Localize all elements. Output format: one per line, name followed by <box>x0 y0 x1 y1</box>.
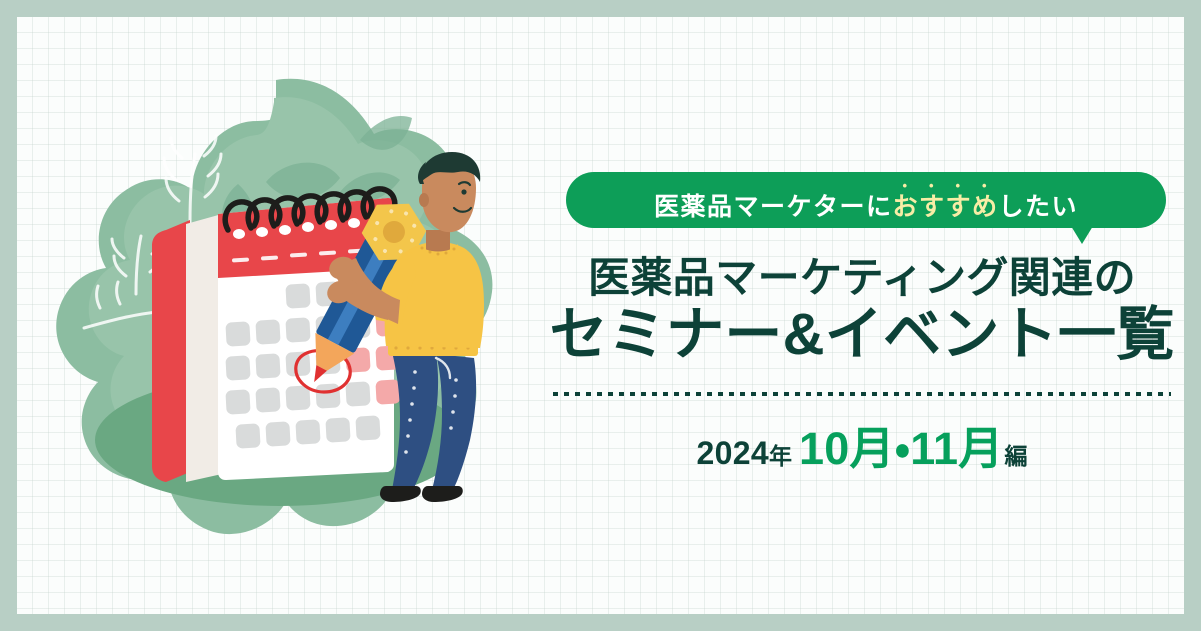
badge-text-plain: 医薬品マーケターに <box>654 193 893 221</box>
person-shoe-back <box>380 486 421 502</box>
badge-tail-pointer <box>1071 226 1093 244</box>
title-line-1: 医薬品マーケティング関連の <box>537 254 1184 301</box>
banner-content: 医薬品マーケターにおすすめしたい 医薬品マーケティング関連の セミナー&イベント… <box>537 172 1184 471</box>
date-year: 2024 <box>697 435 769 471</box>
badge-text: 医薬品マーケターにおすすめしたい <box>654 178 1078 221</box>
calendar-middle-page <box>186 214 222 482</box>
date-year-suffix: 年 <box>769 443 792 469</box>
person-ear <box>419 193 429 207</box>
recommendation-badge: 医薬品マーケターにおすすめしたい <box>566 172 1166 238</box>
dotted-divider <box>553 392 1171 396</box>
date-edition-suffix: 編 <box>1004 443 1027 469</box>
calendar-with-person-illustration <box>40 62 520 552</box>
person-eye <box>461 189 466 194</box>
date-months: 10月・11月 <box>799 423 1004 474</box>
calendar-back-cover <box>152 220 190 482</box>
seminar-event-banner: 医薬品マーケターにおすすめしたい 医薬品マーケティング関連の セミナー&イベント… <box>0 0 1201 631</box>
issue-date-line: 2024年10月・11月編 <box>537 426 1184 471</box>
badge-bubble: 医薬品マーケターにおすすめしたい <box>566 172 1166 228</box>
badge-text-emphasis: おすすめ <box>892 193 998 221</box>
title-line-2: セミナー&イベント一覧 <box>537 303 1184 368</box>
person-shoe-front <box>422 486 463 502</box>
badge-text-tail: したい <box>999 193 1079 221</box>
person-neck <box>426 230 450 252</box>
page-title: 医薬品マーケティング関連の セミナー&イベント一覧 <box>537 254 1184 368</box>
banner-canvas: 医薬品マーケターにおすすめしたい 医薬品マーケティング関連の セミナー&イベント… <box>17 17 1184 614</box>
